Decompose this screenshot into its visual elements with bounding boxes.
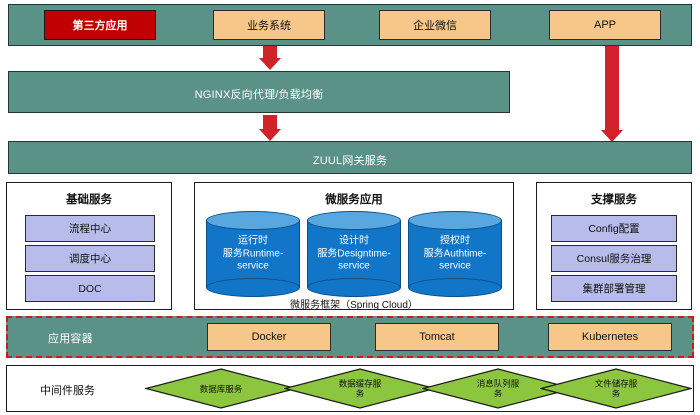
arrow-business-to-nginx: [256, 46, 284, 70]
diamond-line: 务: [292, 389, 428, 400]
chip-label: 调度中心: [69, 251, 111, 266]
arrow-app-to-zuul: [598, 46, 626, 142]
chip-doc[interactable]: DOC: [25, 275, 155, 302]
gateway-layer-label: ZUUL网关服务: [8, 152, 692, 168]
chip-scheduling-center[interactable]: 调度中心: [25, 245, 155, 272]
cylinder-designtime-service[interactable]: 设计时 服务Designtime- service: [307, 211, 401, 297]
cylinder-authtime-service[interactable]: 授权时 服务Authtime- service: [408, 211, 502, 297]
chip-label: Consul服务治理: [577, 251, 652, 266]
client-box-app[interactable]: APP: [549, 10, 661, 40]
cylinder-line: service: [410, 260, 500, 273]
diamond-line: 文件储存服: [548, 378, 684, 389]
middleware-layer-label: 中间件服务: [40, 382, 95, 398]
chip-label: 流程中心: [69, 221, 111, 236]
arrow-nginx-to-zuul: [256, 115, 284, 141]
chip-label: DOC: [78, 283, 101, 295]
client-box-business-system[interactable]: 业务系统: [213, 10, 325, 40]
chip-process-center[interactable]: 流程中心: [25, 215, 155, 242]
container-box-docker[interactable]: Docker: [207, 323, 331, 351]
panel-title-basic-services: 基础服务: [7, 191, 171, 207]
cylinder-line: 授权时: [410, 235, 500, 248]
nginx-layer-label: NGINX反向代理/负载均衡: [8, 86, 510, 102]
diamond-data-cache-service[interactable]: 数据缓存服 务: [284, 368, 436, 409]
cylinder-line: 服务Authtime-: [410, 248, 500, 261]
cylinder-line: 设计时: [309, 235, 399, 248]
panel-basic-services: 基础服务 流程中心 调度中心 DOC: [6, 182, 172, 310]
chip-consul[interactable]: Consul服务治理: [551, 245, 677, 272]
architecture-diagram: 第三方应用 业务系统 企业微信 APP NGINX反向代理/负载均衡 ZUUL网…: [0, 0, 700, 415]
container-box-tomcat[interactable]: Tomcat: [375, 323, 499, 351]
chip-config[interactable]: Config配置: [551, 215, 677, 242]
container-box-label: Tomcat: [419, 331, 454, 343]
cylinder-line: service: [208, 260, 298, 273]
diamond-line: 务: [548, 389, 684, 400]
diamond-line: 数据缓存服: [292, 378, 428, 389]
panel-microservice-apps: 微服务应用 运行时 服务Runtime- service 设计时 服务Desig…: [194, 182, 514, 310]
container-box-kubernetes[interactable]: Kubernetes: [548, 323, 672, 351]
client-box-label: 企业微信: [413, 17, 457, 33]
client-box-wechat-work[interactable]: 企业微信: [379, 10, 491, 40]
cylinder-line: 运行时: [208, 235, 298, 248]
panel-support-services: 支撑服务 Config配置 Consul服务治理 集群部署管理: [536, 182, 692, 310]
panel-title-support-services: 支撑服务: [537, 191, 691, 207]
client-box-label: 第三方应用: [73, 17, 128, 33]
client-box-label: 业务系统: [247, 17, 291, 33]
diamond-line: 数据库服务: [153, 383, 289, 394]
chip-label: Config配置: [588, 221, 639, 236]
cylinder-runtime-service[interactable]: 运行时 服务Runtime- service: [206, 211, 300, 297]
diamond-file-storage-service[interactable]: 文件储存服 务: [540, 368, 692, 409]
client-box-label: APP: [594, 19, 616, 31]
chip-label: 集群部署管理: [583, 281, 646, 296]
panel-footer-spring-cloud: 微服务框架（Spring Cloud）: [195, 296, 513, 311]
client-box-third-party[interactable]: 第三方应用: [44, 10, 156, 40]
container-box-label: Kubernetes: [582, 331, 638, 343]
cylinder-line: 服务Designtime-: [309, 248, 399, 261]
panel-title-microservice-apps: 微服务应用: [195, 191, 513, 207]
cylinder-line: 服务Runtime-: [208, 248, 298, 261]
cylinder-line: service: [309, 260, 399, 273]
container-layer-label: 应用容器: [48, 330, 93, 346]
chip-cluster-deploy[interactable]: 集群部署管理: [551, 275, 677, 302]
diamond-database-service[interactable]: 数据库服务: [145, 368, 297, 409]
container-box-label: Docker: [252, 331, 287, 343]
